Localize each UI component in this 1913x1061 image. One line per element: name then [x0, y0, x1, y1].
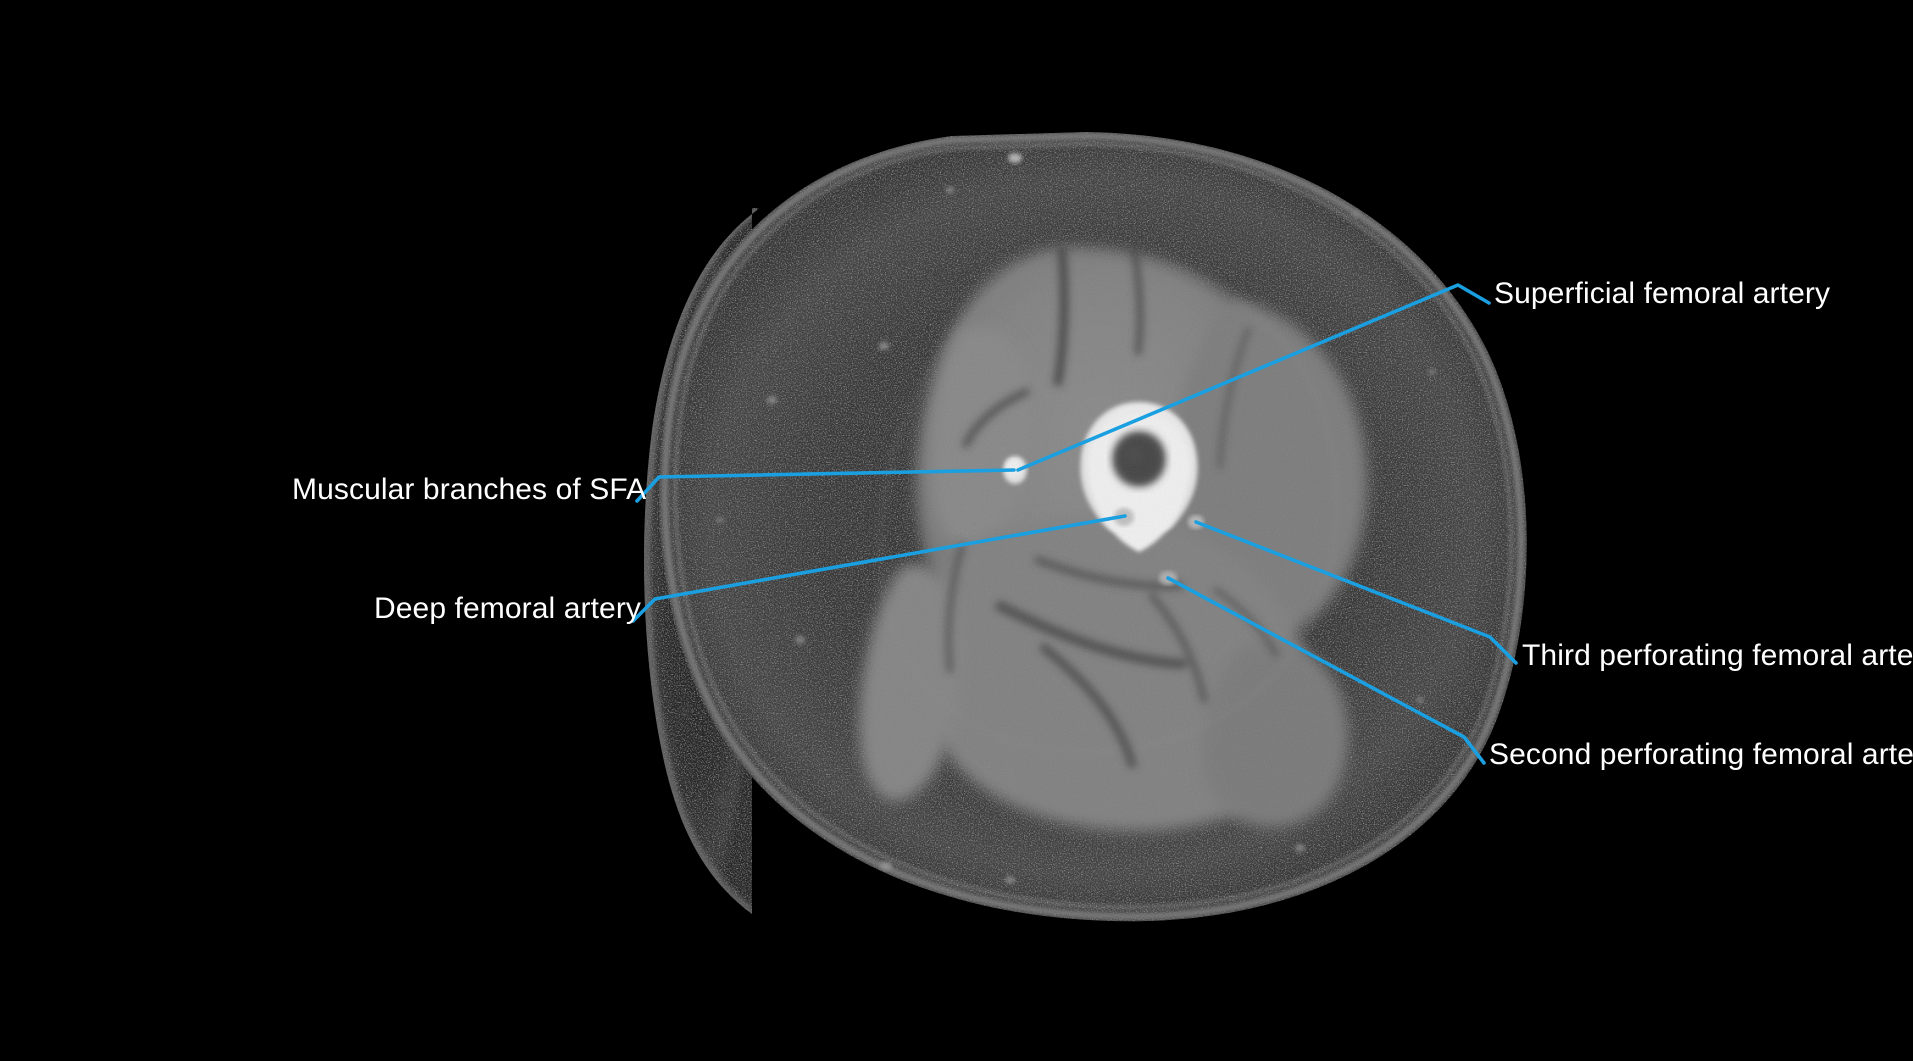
ct-figure-canvas: Superficial femoral arteryMuscular branc… [0, 0, 1913, 1061]
label-deep-femoral-artery: Deep femoral artery [374, 594, 641, 624]
label-superficial-femoral-artery: Superficial femoral artery [1494, 279, 1830, 309]
label-muscular-branches-of-sfa: Muscular branches of SFA [292, 475, 646, 505]
ct-scan-image [0, 0, 1913, 1061]
label-second-perforating-femoral-artery: Second perforating femoral artery [1489, 740, 1913, 770]
label-third-perforating-femoral-artery: Third perforating femoral artery [1522, 641, 1913, 671]
